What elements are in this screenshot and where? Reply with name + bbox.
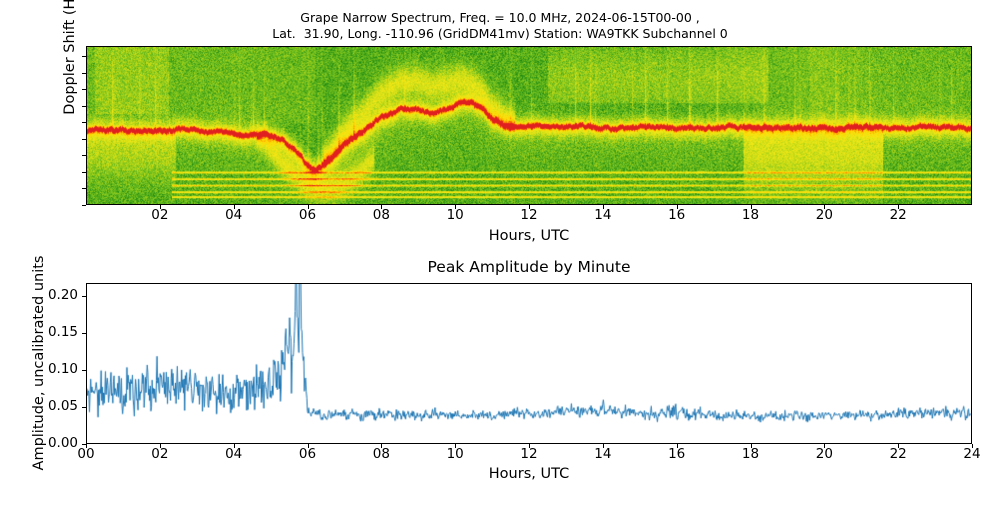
figure-suptitle: Grape Narrow Spectrum, Freq. = 10.0 MHz,… [0,10,1000,42]
spectrogram-y-tick-mark [82,122,86,123]
spectrogram-y-tick-mark [82,139,86,140]
amplitude-x-tick-mark [677,444,678,448]
spectrogram-x-tick-mark [160,205,161,209]
amplitude-x-tick-mark [86,444,87,448]
amplitude-y-tick-label: 0.15 [8,324,78,340]
amplitude-line-series [87,284,971,443]
spectrogram-y-tick-mark [82,155,86,156]
amplitude-x-tick-mark [529,444,530,448]
spectrogram-y-tick-mark [82,73,86,74]
amplitude-x-tick-label: 02 [140,446,180,462]
spectrogram-x-tick-label: 18 [731,207,771,223]
amplitude-x-tick-label: 16 [657,446,697,462]
spectrogram-y-tick-mark [82,89,86,90]
spectrogram-x-tick-mark [234,205,235,209]
spectrogram-x-tick-label: 02 [140,207,180,223]
amplitude-y-tick-label: 0.05 [8,398,78,414]
spectrogram-x-tick-label: 08 [361,207,401,223]
amplitude-x-tick-label: 22 [878,446,918,462]
spectrogram-x-tick-mark [898,205,899,209]
amplitude-x-tick-mark [603,444,604,448]
amplitude-x-tick-label: 14 [583,446,623,462]
spectrogram-x-tick-mark [677,205,678,209]
spectrogram-x-tick-mark [308,205,309,209]
amplitude-y-tick-mark [82,296,86,297]
spectrogram-x-tick-label: 12 [509,207,549,223]
spectrogram-x-tick-label: 14 [583,207,623,223]
amplitude-y-tick-label: 0.10 [8,361,78,377]
amplitude-y-tick-mark [82,407,86,408]
amplitude-x-tick-label: 12 [509,446,549,462]
amplitude-x-tick-mark [824,444,825,448]
spectrogram-x-tick-mark [824,205,825,209]
spectrogram-x-tick-label: 04 [214,207,254,223]
spectrogram-image [87,47,971,204]
amplitude-y-tick-mark [82,370,86,371]
spectrogram-x-tick-label: 10 [435,207,475,223]
figure-canvas: Grape Narrow Spectrum, Freq. = 10.0 MHz,… [0,0,1000,500]
amplitude-x-tick-mark [751,444,752,448]
amplitude-x-tick-label: 00 [66,446,106,462]
amplitude-y-tick-mark [82,444,86,445]
amplitude-x-tick-mark [455,444,456,448]
amplitude-x-tick-mark [234,444,235,448]
spectrogram-x-tick-mark [455,205,456,209]
suptitle-line-1: Grape Narrow Spectrum, Freq. = 10.0 MHz,… [0,10,1000,26]
amplitude-y-tick-label: 0.20 [8,287,78,303]
amplitude-x-tick-mark [381,444,382,448]
spectrogram-x-tick-mark [751,205,752,209]
spectrogram-x-tick-mark [529,205,530,209]
spectrogram-x-tick-label: 20 [804,207,844,223]
amplitude-x-tick-label: 08 [361,446,401,462]
spectrogram-y-tick-mark [82,172,86,173]
amplitude-x-axis-label: Hours, UTC [86,466,972,482]
amplitude-x-tick-label: 10 [435,446,475,462]
amplitude-x-tick-label: 06 [288,446,328,462]
spectrogram-y-tick-mark [82,205,86,206]
amplitude-x-tick-mark [308,444,309,448]
amplitude-x-tick-label: 18 [731,446,771,462]
amplitude-x-tick-label: 24 [952,446,992,462]
suptitle-line-2: Lat. 31.90, Long. -110.96 (GridDM41mv) S… [0,26,1000,42]
amplitude-x-tick-mark [972,444,973,448]
amplitude-y-tick-mark [82,333,86,334]
spectrogram-y-tick-mark [82,106,86,107]
spectrogram-x-tick-mark [381,205,382,209]
spectrogram-x-axis-label: Hours, UTC [86,228,972,244]
spectrogram-x-tick-mark [603,205,604,209]
spectrogram-x-tick-label: 22 [878,207,918,223]
spectrogram-x-tick-label: 06 [288,207,328,223]
amplitude-plot-title: Peak Amplitude by Minute [86,258,972,276]
amplitude-x-tick-label: 20 [804,446,844,462]
spectrogram-y-tick-mark [82,56,86,57]
amplitude-x-tick-mark [898,444,899,448]
spectrogram-x-tick-label: 16 [657,207,697,223]
amplitude-x-tick-label: 04 [214,446,254,462]
amplitude-axes [86,283,972,444]
spectrogram-axes [86,46,972,205]
spectrogram-y-axis-label: Doppler Shift (Hz) [62,0,82,140]
spectrogram-y-tick-mark [82,188,86,189]
amplitude-x-tick-mark [160,444,161,448]
